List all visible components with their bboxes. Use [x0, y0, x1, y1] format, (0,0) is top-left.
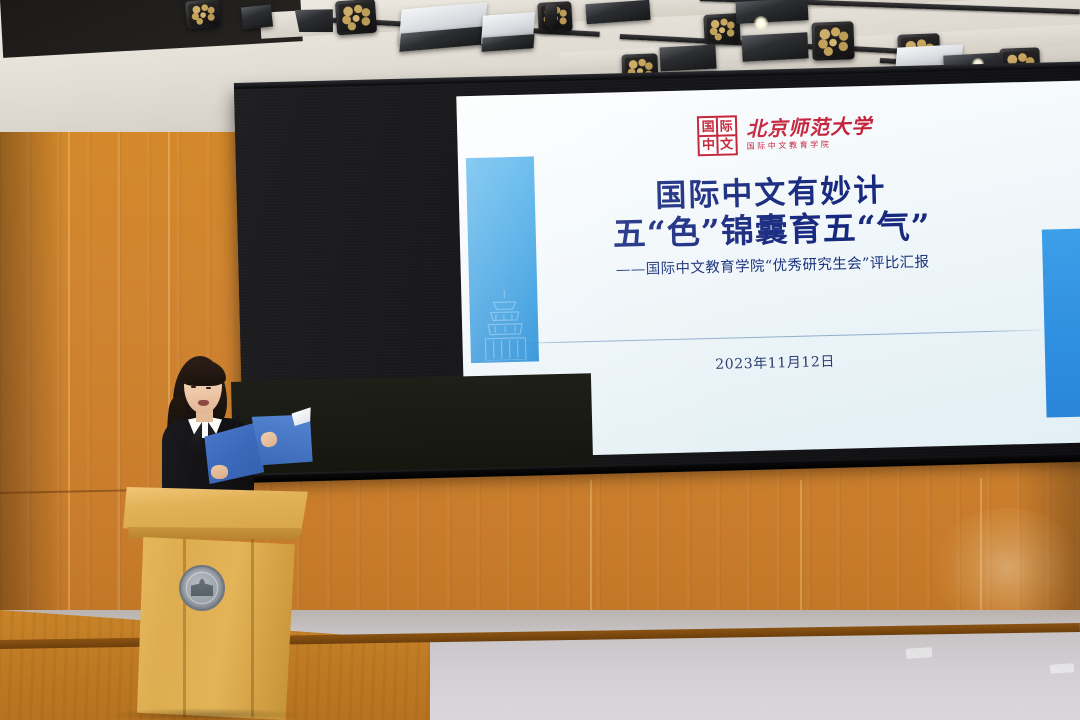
- seal-char-1: 国: [699, 118, 717, 136]
- podium-panel-edge: [183, 539, 186, 717]
- podium-body: [137, 537, 295, 720]
- presenter-mouth: [198, 400, 209, 406]
- slide-title-block: 国际中文有妙计 五“色”锦囊育五“气” ——国际中文教育学院“优秀研究生会”评比…: [459, 169, 1080, 284]
- seal-char-3: 中: [699, 136, 717, 154]
- barn-door-light-icon: [735, 0, 808, 24]
- par-yoke: [545, 4, 557, 28]
- podium-panel-edge: [251, 539, 254, 717]
- presentation-photo-scene: 国 际 中 文 北京师范大学 国际中文教育学院 国际中文有妙计 五“色”锦囊育五…: [0, 0, 1080, 720]
- university-name: 北京师范大学: [746, 116, 872, 139]
- barn-door-light-icon: [295, 6, 336, 36]
- university-wordmark: 北京师范大学 国际中文教育学院: [746, 116, 873, 151]
- slide-logo-group: 国 际 中 文 北京师范大学 国际中文教育学院: [697, 112, 873, 156]
- par-light-icon: [811, 21, 854, 60]
- wooden-podium: [123, 487, 308, 720]
- microphone-head: [232, 408, 239, 415]
- par-light-icon: [335, 0, 377, 35]
- floor-mark: [906, 647, 933, 659]
- par-light-icon: [703, 13, 741, 45]
- college-name: 国际中文教育学院: [747, 140, 873, 151]
- barn-door-light-icon: [241, 4, 273, 29]
- presenter-hand-left: [211, 465, 228, 479]
- wall-seam: [118, 60, 120, 658]
- university-emblem: [179, 565, 225, 611]
- light-bulb-icon: [754, 16, 768, 30]
- barn-door-light-icon: [659, 45, 716, 72]
- par-light-icon: [185, 0, 221, 29]
- seal-char-4: 文: [717, 135, 735, 153]
- barn-door-light-icon: [741, 32, 808, 61]
- podium-shadow: [110, 708, 300, 720]
- floor-mark: [1050, 663, 1075, 674]
- slide-subtitle: ——国际中文教育学院“优秀研究生会”评比汇报: [461, 251, 1080, 284]
- slide-divider: [497, 329, 1053, 344]
- chinese-seal-icon: 国 际 中 文: [697, 115, 738, 156]
- tower-building-watermark: [481, 288, 529, 361]
- presenter-fringe: [180, 360, 226, 386]
- seal-char-2: 际: [717, 117, 735, 135]
- wall-seam: [68, 56, 70, 656]
